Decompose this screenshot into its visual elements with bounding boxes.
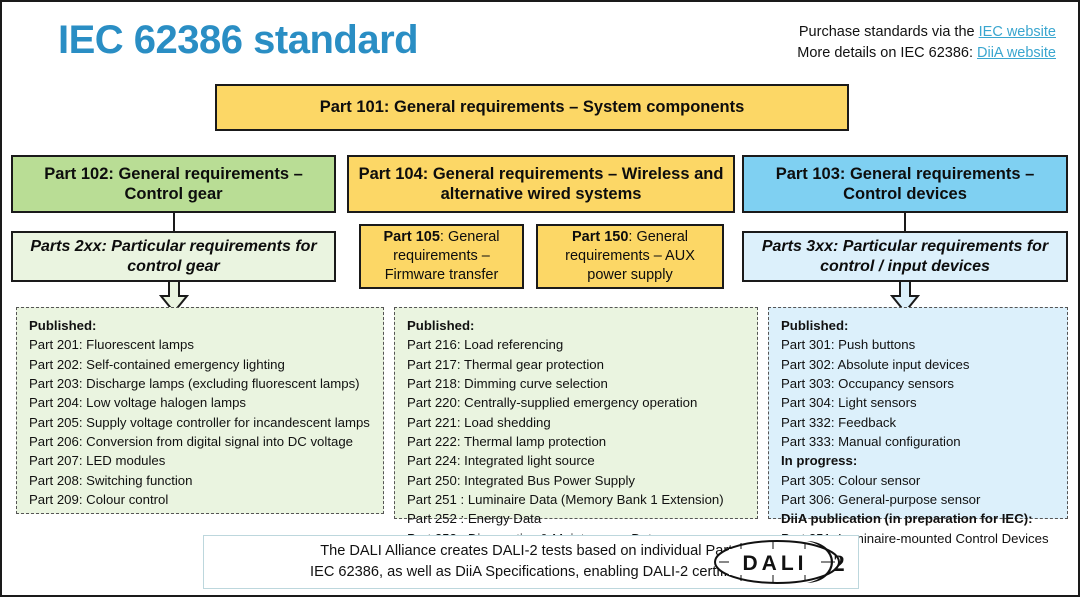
section-title: Published: (29, 316, 373, 335)
list-item: Part 220: Centrally-supplied emergency o… (407, 393, 747, 412)
list-item: Part 209: Colour control (29, 490, 373, 509)
part-103-label: Part 103: General requirements – Control… (752, 164, 1058, 204)
page-title: IEC 62386 standard (58, 18, 418, 63)
part-101-box[interactable]: Part 101: General requirements – System … (215, 84, 849, 131)
diia-website-link[interactable]: DiiA website (977, 45, 1056, 61)
part-105-number: Part 105 (383, 229, 439, 245)
list-item: Part 301: Push buttons (781, 335, 1057, 354)
parts-2xx-label: Parts 2xx: Particular requirements for c… (21, 237, 326, 276)
section-title: DiiA publication (in preparation for IEC… (781, 509, 1057, 528)
dali-alliance-footer: The DALI Alliance creates DALI-2 tests b… (203, 535, 859, 589)
part-105-label: Part 105: General requirements – Firmwar… (367, 228, 516, 285)
iec-website-link[interactable]: IEC website (979, 24, 1056, 40)
parts-3xx-label: Parts 3xx: Particular requirements for c… (752, 237, 1058, 276)
list-item: Part 304: Light sensors (781, 393, 1057, 412)
list-item: Part 302: Absolute input devices (781, 355, 1057, 374)
connector-left (173, 213, 175, 231)
list-item: Part 303: Occupancy sensors (781, 374, 1057, 393)
part-150-number: Part 150 (572, 229, 628, 245)
part-103-box[interactable]: Part 103: General requirements – Control… (742, 155, 1068, 213)
parts-3xx-box[interactable]: Parts 3xx: Particular requirements for c… (742, 231, 1068, 282)
list-item: Part 333: Manual configuration (781, 432, 1057, 451)
list-item: Part 305: Colour sensor (781, 471, 1057, 490)
part-105-box[interactable]: Part 105: General requirements – Firmwar… (359, 224, 524, 289)
list-item: Part 203: Discharge lamps (excluding flu… (29, 374, 373, 393)
part-102-box[interactable]: Part 102: General requirements – Control… (11, 155, 336, 213)
section-title: Published: (781, 316, 1057, 335)
part-101-label: Part 101: General requirements – System … (320, 97, 745, 117)
parts-104-published-panel: Published: Part 216: Load referencing Pa… (394, 307, 758, 519)
part-104-label: Part 104: General requirements – Wireles… (357, 164, 725, 204)
list-item: Part 221: Load shedding (407, 413, 747, 432)
list-item: Part 208: Switching function (29, 471, 373, 490)
section-title: In progress: (781, 451, 1057, 470)
part-102-label: Part 102: General requirements – Control… (21, 164, 326, 204)
list-item: Part 252 : Energy Data (407, 509, 747, 528)
purchase-standards-line: Purchase standards via the IEC website (797, 22, 1056, 43)
part-104-box[interactable]: Part 104: General requirements – Wireles… (347, 155, 735, 213)
connector-right (904, 213, 906, 231)
list-item: Part 202: Self-contained emergency light… (29, 355, 373, 374)
dali-logo-word: DALI (743, 552, 808, 575)
part-150-box[interactable]: Part 150: General requirements – AUX pow… (536, 224, 724, 289)
parts-3xx-published-panel: Published: Part 301: Push buttons Part 3… (768, 307, 1068, 519)
list-item: Part 205: Supply voltage controller for … (29, 413, 373, 432)
list-item: Part 204: Low voltage halogen lamps (29, 393, 373, 412)
parts-2xx-box[interactable]: Parts 2xx: Particular requirements for c… (11, 231, 336, 282)
list-item: Part 250: Integrated Bus Power Supply (407, 471, 747, 490)
list-item: Part 332: Feedback (781, 413, 1057, 432)
list-item: Part 201: Fluorescent lamps (29, 335, 373, 354)
list-item: Part 306: General-purpose sensor (781, 490, 1057, 509)
dali-logo-digit: 2 (833, 551, 845, 576)
list-item: Part 216: Load referencing (407, 335, 747, 354)
part-150-label: Part 150: General requirements – AUX pow… (544, 228, 716, 285)
section-title: Published: (407, 316, 747, 335)
more-details-line: More details on IEC 62386: DiiA website (797, 43, 1056, 64)
parts-2xx-published-panel: Published: Part 201: Fluorescent lamps P… (16, 307, 384, 514)
list-item: Part 206: Conversion from digital signal… (29, 432, 373, 451)
list-item: Part 251 : Luminaire Data (Memory Bank 1… (407, 490, 747, 509)
more-details-text: More details on IEC 62386: (797, 45, 977, 61)
list-item: Part 218: Dimming curve selection (407, 374, 747, 393)
header-links: Purchase standards via the IEC website M… (797, 22, 1056, 63)
list-item: Part 207: LED modules (29, 451, 373, 470)
purchase-standards-text: Purchase standards via the (799, 24, 979, 40)
list-item: Part 222: Thermal lamp protection (407, 432, 747, 451)
dali-2-logo: DALI 2 (711, 535, 857, 589)
diagram-page: IEC 62386 standard Purchase standards vi… (0, 0, 1080, 597)
list-item: Part 217: Thermal gear protection (407, 355, 747, 374)
list-item: Part 224: Integrated light source (407, 451, 747, 470)
